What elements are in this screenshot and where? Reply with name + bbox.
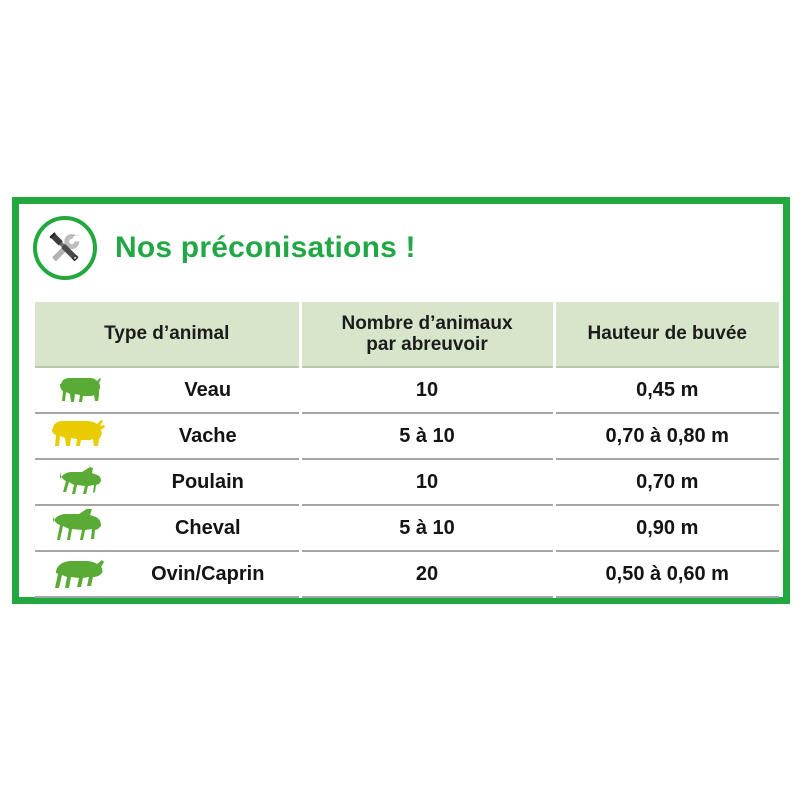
cow-icon	[35, 417, 127, 455]
table-header-row: Type d’animal Nombre d’animaux par abreu…	[35, 302, 779, 367]
column-header-count-line2: par abreuvoir	[308, 334, 547, 355]
horse-glyph	[48, 509, 114, 547]
horse-icon	[35, 509, 127, 547]
wrench-screwdriver-icon	[33, 216, 97, 280]
tools-glyph	[43, 226, 87, 270]
cell-animal-count: 5 à 10	[300, 413, 554, 459]
cow-calf-glyph	[51, 373, 111, 407]
recommendations-table: Type d’animal Nombre d’animaux par abreu…	[35, 302, 779, 598]
card-header: Nos préconisations !	[19, 204, 783, 292]
recommendations-card: Nos préconisations ! Type d’animal Nombr…	[12, 197, 790, 604]
cell-drinking-height: 0,50 à 0,60 m	[554, 551, 779, 597]
column-header-count-line1: Nombre d’animaux	[308, 313, 547, 334]
cell-animal-count: 10	[300, 459, 554, 505]
cell-animal-type: Cheval	[35, 505, 300, 551]
sheep-icon	[35, 556, 127, 592]
cow-glyph	[47, 417, 115, 455]
cell-drinking-height: 0,90 m	[554, 505, 779, 551]
table-row: Veau 10 0,45 m	[35, 367, 779, 413]
column-header-count: Nombre d’animaux par abreuvoir	[300, 302, 554, 367]
table-row: Ovin/Caprin 20 0,50 à 0,60 m	[35, 551, 779, 597]
table-row: Poulain 10 0,70 m	[35, 459, 779, 505]
cell-drinking-height: 0,70 m	[554, 459, 779, 505]
cell-drinking-height: 0,70 à 0,80 m	[554, 413, 779, 459]
table-row: Vache 5 à 10 0,70 à 0,80 m	[35, 413, 779, 459]
cell-animal-count: 20	[300, 551, 554, 597]
foal-icon	[35, 465, 127, 499]
animal-type-label: Vache	[127, 425, 299, 448]
table-row: Cheval 5 à 10 0,90 m	[35, 505, 779, 551]
cell-animal-type: Poulain	[35, 459, 300, 505]
animal-type-label: Ovin/Caprin	[127, 563, 299, 586]
animal-type-label: Poulain	[127, 471, 299, 494]
animal-type-label: Cheval	[127, 517, 299, 540]
animal-type-label: Veau	[127, 379, 299, 402]
cell-animal-count: 5 à 10	[300, 505, 554, 551]
cell-animal-count: 10	[300, 367, 554, 413]
column-header-type: Type d’animal	[35, 302, 300, 367]
sheep-glyph	[50, 556, 112, 592]
cell-animal-type: Veau	[35, 367, 300, 413]
cell-drinking-height: 0,45 m	[554, 367, 779, 413]
page-title: Nos préconisations !	[115, 231, 416, 265]
foal-glyph	[52, 465, 110, 499]
cow-calf-icon	[35, 373, 127, 407]
cell-animal-type: Ovin/Caprin	[35, 551, 300, 597]
cell-animal-type: Vache	[35, 413, 300, 459]
column-header-height: Hauteur de buvée	[554, 302, 779, 367]
